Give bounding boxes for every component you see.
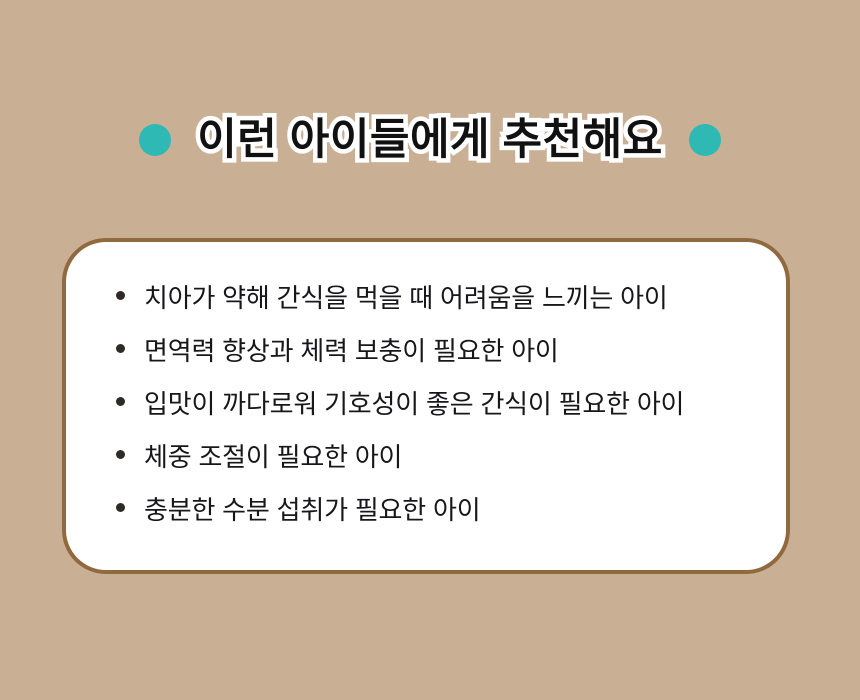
bullet-dot-icon	[116, 450, 125, 459]
teal-circle-icon-left	[139, 124, 171, 156]
list-item: 치아가 약해 간식을 먹을 때 어려움을 느끼는 아이	[116, 272, 772, 325]
recommendation-card: 치아가 약해 간식을 먹을 때 어려움을 느끼는 아이 면역력 향상과 체력 보…	[62, 238, 790, 574]
bullet-dot-icon	[116, 397, 125, 406]
list-item: 충분한 수분 섭취가 필요한 아이	[116, 484, 772, 537]
slide-canvas: 이런 아이들에게 추천해요 치아가 약해 간식을 먹을 때 어려움을 느끼는 아…	[0, 0, 860, 700]
bullet-dot-icon	[116, 291, 125, 300]
title-row: 이런 아이들에게 추천해요	[0, 104, 860, 176]
list-item-label: 치아가 약해 간식을 먹을 때 어려움을 느끼는 아이	[144, 272, 668, 325]
list-item: 입맛이 까다로워 기호성이 좋은 간식이 필요한 아이	[116, 378, 772, 431]
recommendation-list: 치아가 약해 간식을 먹을 때 어려움을 느끼는 아이 면역력 향상과 체력 보…	[116, 272, 772, 537]
list-item-label: 체중 조절이 필요한 아이	[144, 431, 402, 484]
page-title: 이런 아이들에게 추천해요	[197, 119, 663, 162]
teal-circle-icon-right	[689, 124, 721, 156]
bullet-dot-icon	[116, 344, 125, 353]
bullet-dot-icon	[116, 503, 125, 512]
list-item-label: 충분한 수분 섭취가 필요한 아이	[144, 484, 480, 537]
list-item-label: 면역력 향상과 체력 보충이 필요한 아이	[144, 325, 559, 378]
list-item: 면역력 향상과 체력 보충이 필요한 아이	[116, 325, 772, 378]
list-item: 체중 조절이 필요한 아이	[116, 431, 772, 484]
list-item-label: 입맛이 까다로워 기호성이 좋은 간식이 필요한 아이	[144, 378, 684, 431]
